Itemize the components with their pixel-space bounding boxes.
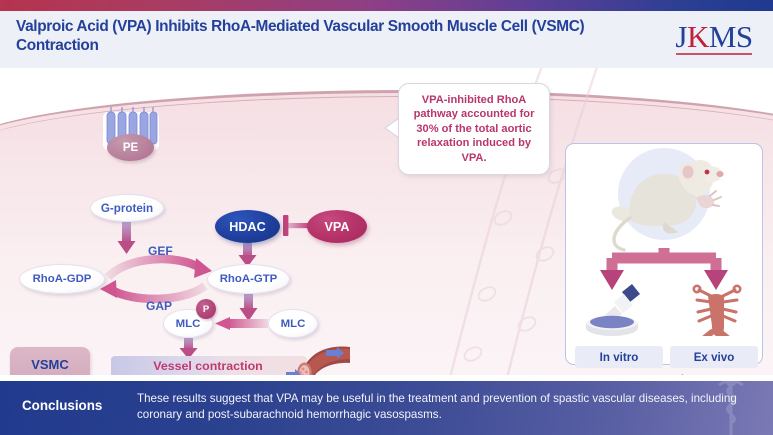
- chip-in-vitro: In vitro: [575, 346, 663, 368]
- arrow-gef-cycle: [108, 258, 212, 278]
- blood-vessel-icon: [282, 342, 354, 375]
- experiment-illustration: [568, 146, 760, 336]
- node-pe: PE: [107, 134, 154, 161]
- callout-box: VPA-inhibited RhoA pathway accounted for…: [398, 83, 550, 175]
- arrow-gap-cycle: [100, 280, 205, 299]
- arrow-gprotein-to-gef: [118, 222, 136, 254]
- logo-letters-ms: MS: [709, 19, 753, 54]
- finding-item: H3K9ac/K14ac levels: [572, 373, 772, 375]
- node-g-protein: G-protein: [90, 194, 164, 222]
- node-phosphate: P: [196, 299, 216, 319]
- node-mlc: MLC: [268, 309, 318, 338]
- graphical-abstract-page: Valproic Acid (VPA) Inhibits RhoA-Mediat…: [0, 0, 773, 435]
- conclusions-text: These results suggest that VPA may be us…: [137, 391, 737, 424]
- logo-letter-k: K: [687, 19, 709, 54]
- logo-underline: [676, 53, 752, 55]
- branch-arrows: [600, 248, 728, 290]
- node-vpa: VPA: [307, 210, 367, 243]
- vsmc-badge: VSMC: [10, 347, 90, 375]
- aorta-icon: [694, 286, 740, 336]
- logo-letter-j: J: [675, 19, 687, 54]
- jkms-logo-text: JKMS: [665, 21, 763, 53]
- chip-ex-vivo: Ex vivo: [670, 346, 758, 368]
- petri-dish-icon: [586, 316, 638, 336]
- label-gap: GAP: [146, 299, 172, 313]
- arrow-mlc-to-pmlc: [215, 317, 268, 330]
- arrow-rhoagtp-to-mlc: [240, 294, 258, 321]
- conclusions-label: Conclusions: [22, 398, 132, 413]
- finding-label: H3K9ac/K14ac levels: [572, 373, 673, 375]
- conclusions-bar: Conclusions These results suggest that V…: [0, 381, 773, 435]
- node-hdac: HDAC: [215, 210, 280, 243]
- inhibition-vpa-hdac: [283, 215, 309, 236]
- arrow-up-icon: [677, 374, 688, 375]
- jkms-logo: JKMS: [665, 21, 763, 63]
- page-title: Valproic Acid (VPA) Inhibits RhoA-Mediat…: [16, 17, 646, 55]
- label-gef: GEF: [148, 244, 173, 258]
- findings-list: H3K9ac/K14ac levels RhoA/p-MLC-Ser19 exp…: [572, 373, 772, 375]
- vessel-contraction-label: Vessel contraction: [128, 359, 288, 373]
- diagram-canvas: PE G-protein HDAC VPA RhoA-GDP RhoA-GTP …: [0, 68, 773, 375]
- header: Valproic Acid (VPA) Inhibits RhoA-Mediat…: [0, 11, 773, 68]
- node-rhoa-gdp: RhoA-GDP: [19, 264, 105, 294]
- top-accent-bar: [0, 0, 773, 11]
- node-rhoa-gtp: RhoA-GTP: [207, 264, 290, 294]
- callout-text: VPA-inhibited RhoA pathway accounted for…: [399, 93, 549, 165]
